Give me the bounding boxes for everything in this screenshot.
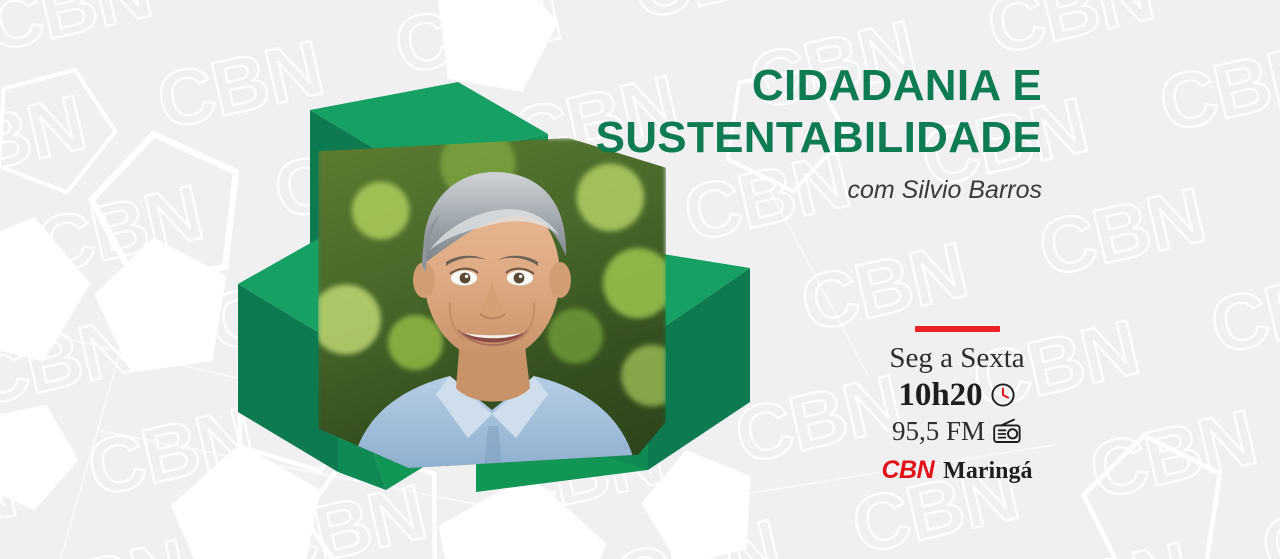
station-logo: CBN Maringá bbox=[872, 456, 1042, 485]
cbn-watermark-text: CBN bbox=[1255, 475, 1280, 559]
cbn-watermark-text: CBN bbox=[0, 305, 143, 418]
cbn-watermark-text: CBN bbox=[1083, 397, 1262, 510]
schedule-block: Seg a Sexta 10h20 95,5 FM bbox=[872, 326, 1042, 485]
cbn-watermark-text: CBN bbox=[981, 0, 1160, 66]
schedule-frequency-row: 95,5 FM bbox=[872, 417, 1042, 445]
program-host-subtitle: com Silvio Barros bbox=[596, 176, 1042, 205]
cbn-watermark-text: CBN bbox=[1032, 175, 1211, 288]
cbn-watermark-text: CBN bbox=[1204, 253, 1280, 366]
station-city-name: Maringá bbox=[943, 458, 1032, 485]
cbn-watermark-text: CBN bbox=[30, 173, 209, 286]
red-accent-bar bbox=[915, 326, 1000, 332]
decorative-hairline bbox=[59, 311, 133, 559]
cbn-watermark-text: CBN bbox=[626, 0, 805, 31]
pentagon-shape bbox=[0, 196, 108, 378]
program-title-block: CIDADANIA E SUSTENTABILIDADE com Silvio … bbox=[596, 64, 1042, 205]
cbn-watermark-text: CBN bbox=[0, 83, 92, 196]
cbn-watermark-text: CBN bbox=[1152, 30, 1280, 143]
station-network-name: CBN bbox=[882, 456, 935, 485]
page-title-line-1: CIDADANIA E bbox=[596, 64, 1042, 108]
decorative-hairline bbox=[769, 191, 869, 377]
cbn-watermark-text: CBN bbox=[15, 527, 194, 559]
cbn-watermark-text: CBN bbox=[608, 507, 787, 559]
radio-icon bbox=[992, 418, 1022, 444]
cbn-watermark-text: CBN bbox=[216, 0, 395, 9]
cbn-program-banner: CBN CBN CBN CBN CBN CBN CBN CBN CBN CBN … bbox=[0, 0, 1280, 559]
pentagon-shape bbox=[0, 380, 98, 525]
watermark-row: CBN CBN CBN CBN CBN CBN bbox=[0, 549, 1280, 559]
pentagon-outline-shape bbox=[1069, 419, 1241, 559]
cbn-watermark-text: CBN bbox=[0, 450, 22, 559]
clock-icon bbox=[990, 382, 1016, 408]
pentagon-outline-shape bbox=[0, 43, 137, 211]
schedule-time: 10h20 bbox=[898, 378, 982, 413]
cbn-watermark-text: CBN bbox=[1017, 530, 1196, 559]
cbn-watermark-text: CBN bbox=[0, 0, 158, 64]
schedule-days: Seg a Sexta bbox=[872, 343, 1042, 375]
page-title-line-2: SUSTENTABILIDADE bbox=[596, 116, 1042, 160]
schedule-frequency: 95,5 FM bbox=[892, 417, 985, 445]
schedule-time-row: 10h20 bbox=[872, 378, 1042, 413]
